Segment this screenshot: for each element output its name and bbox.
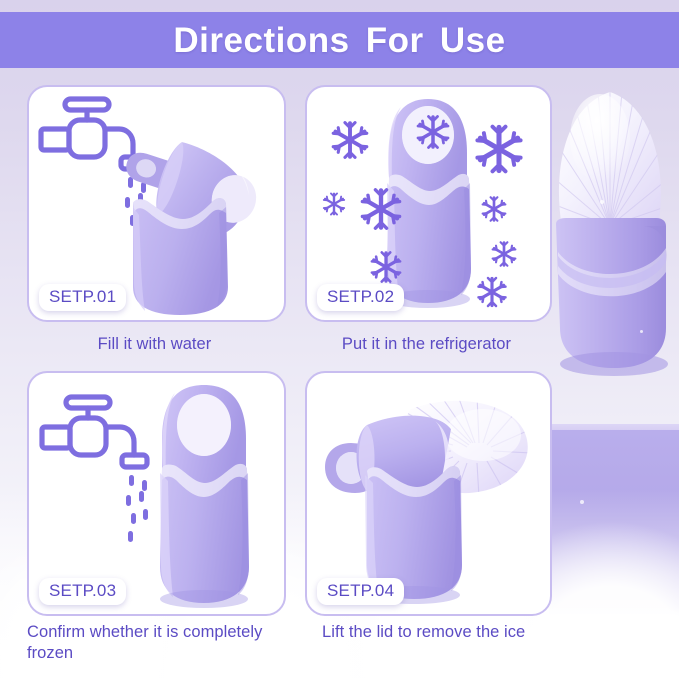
step-4-caption: Lift the lid to remove the ice bbox=[322, 622, 572, 643]
snow-speck bbox=[640, 330, 643, 333]
product-photo bbox=[540, 76, 679, 448]
step-card-3: SETP.03 bbox=[27, 371, 286, 616]
step-2-caption: Put it in the refrigerator bbox=[300, 334, 553, 355]
snow-speck bbox=[300, 650, 303, 653]
step-4-badge: SETP.04 bbox=[317, 578, 404, 605]
header-banner: Directions For Use bbox=[0, 12, 679, 68]
page-title: Directions For Use bbox=[173, 23, 505, 58]
step-3-caption: Confirm whether it is completely frozen bbox=[27, 622, 289, 664]
snow-speck bbox=[600, 200, 604, 204]
step-1-badge: SETP.01 bbox=[39, 284, 126, 311]
step-card-1: SETP.01 bbox=[27, 85, 286, 322]
step-card-4: SETP.04 bbox=[305, 371, 552, 616]
step-1-caption: Fill it with water bbox=[27, 334, 282, 355]
step-3-badge: SETP.03 bbox=[39, 578, 126, 605]
step-2-badge: SETP.02 bbox=[317, 284, 404, 311]
promo-graphic: Directions For Use bbox=[0, 0, 679, 679]
step-card-2: SETP.02 bbox=[305, 85, 552, 322]
snow-speck bbox=[580, 500, 584, 504]
